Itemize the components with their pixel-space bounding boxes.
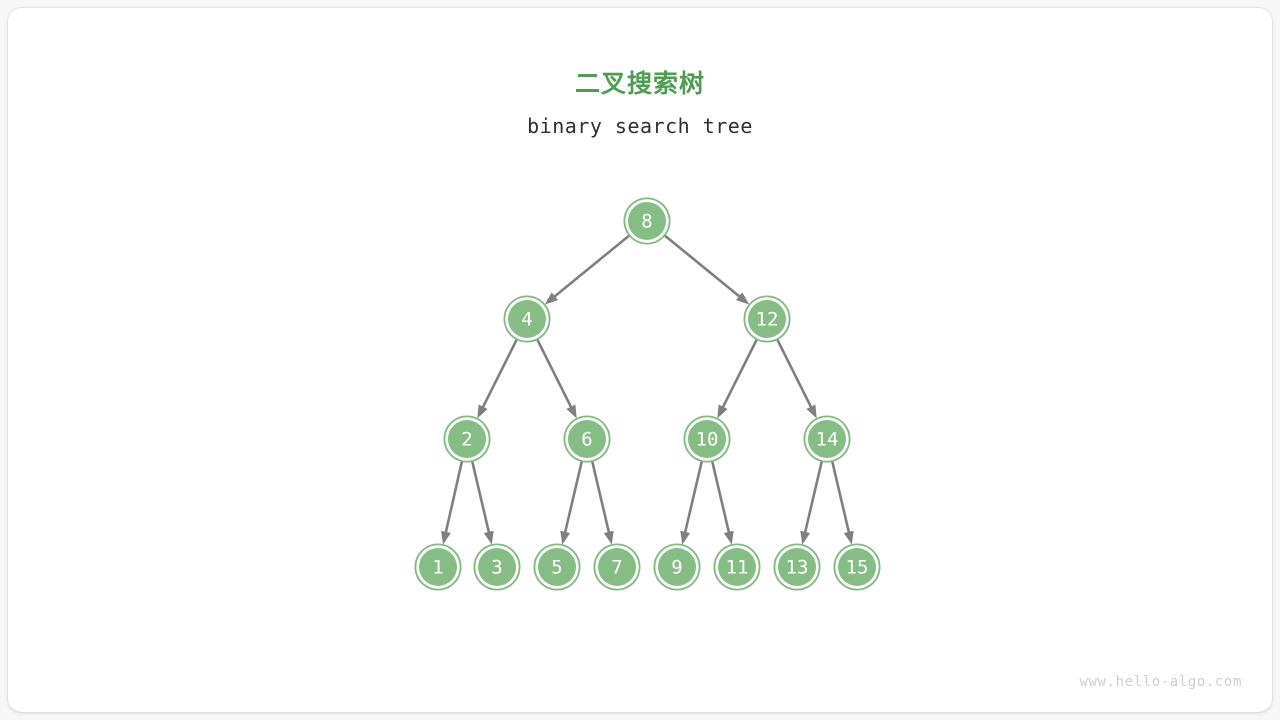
tree-node-1[interactable]: 1 (416, 545, 461, 590)
tree-edge (800, 460, 822, 545)
tree-node-4[interactable]: 4 (505, 297, 550, 342)
tree-node-14[interactable]: 14 (805, 417, 850, 462)
binary-search-tree-diagram: 841226101413579111315 (8, 8, 1272, 712)
tree-node-label: 2 (461, 429, 472, 451)
tree-node-label: 9 (671, 557, 682, 579)
tree-node-7[interactable]: 7 (595, 545, 640, 590)
tree-node-13[interactable]: 13 (775, 545, 820, 590)
tree-node-10[interactable]: 10 (685, 417, 730, 462)
tree-edge (712, 460, 734, 545)
tree-node-label: 8 (641, 211, 652, 233)
arrowhead-icon (806, 405, 816, 419)
arrowhead-icon (441, 531, 451, 545)
arrowhead-icon (724, 531, 734, 545)
arrowhead-icon (717, 405, 727, 419)
tree-edge (832, 460, 854, 545)
arrowhead-icon (604, 531, 614, 545)
tree-node-15[interactable]: 15 (835, 545, 880, 590)
arrowhead-icon (477, 405, 487, 419)
tree-edge (441, 460, 462, 545)
tree-node-3[interactable]: 3 (475, 545, 520, 590)
tree-edge (664, 235, 750, 305)
diagram-card: 二叉搜索树 binary search tree 841226101413579… (8, 8, 1272, 712)
tree-edge (537, 338, 577, 418)
arrowhead-icon (680, 531, 690, 545)
tree-edge (560, 460, 582, 545)
tree-node-5[interactable]: 5 (535, 545, 580, 590)
tree-node-2[interactable]: 2 (445, 417, 490, 462)
tree-nodes-group: 841226101413579111315 (416, 199, 880, 590)
tree-edge (472, 460, 494, 545)
tree-node-11[interactable]: 11 (715, 545, 760, 590)
tree-node-label: 13 (786, 557, 809, 579)
tree-node-label: 1 (432, 557, 443, 579)
tree-edge (545, 235, 631, 305)
tree-node-label: 12 (756, 309, 779, 331)
tree-node-label: 11 (726, 557, 749, 579)
tree-edge (680, 460, 702, 545)
tree-node-label: 6 (581, 429, 592, 451)
arrowhead-icon (800, 531, 810, 545)
tree-node-label: 14 (816, 429, 839, 451)
tree-edges-group (441, 235, 854, 545)
tree-node-9[interactable]: 9 (655, 545, 700, 590)
tree-node-6[interactable]: 6 (565, 417, 610, 462)
tree-edge (592, 460, 614, 545)
tree-edge (777, 338, 817, 418)
arrowhead-icon (844, 531, 854, 545)
tree-node-label: 5 (551, 557, 562, 579)
site-watermark: www.hello-algo.com (1079, 674, 1242, 690)
tree-edge (717, 338, 757, 418)
tree-node-label: 4 (521, 309, 532, 331)
arrowhead-icon (484, 531, 494, 545)
tree-edge (477, 338, 517, 418)
tree-node-label: 10 (696, 429, 719, 451)
tree-node-12[interactable]: 12 (745, 297, 790, 342)
tree-node-label: 15 (846, 557, 869, 579)
arrowhead-icon (560, 531, 570, 545)
screenshot-canvas: 二叉搜索树 binary search tree 841226101413579… (0, 0, 1280, 720)
arrowhead-icon (566, 405, 576, 419)
tree-node-label: 3 (491, 557, 502, 579)
tree-node-label: 7 (611, 557, 622, 579)
tree-node-8[interactable]: 8 (625, 199, 670, 244)
